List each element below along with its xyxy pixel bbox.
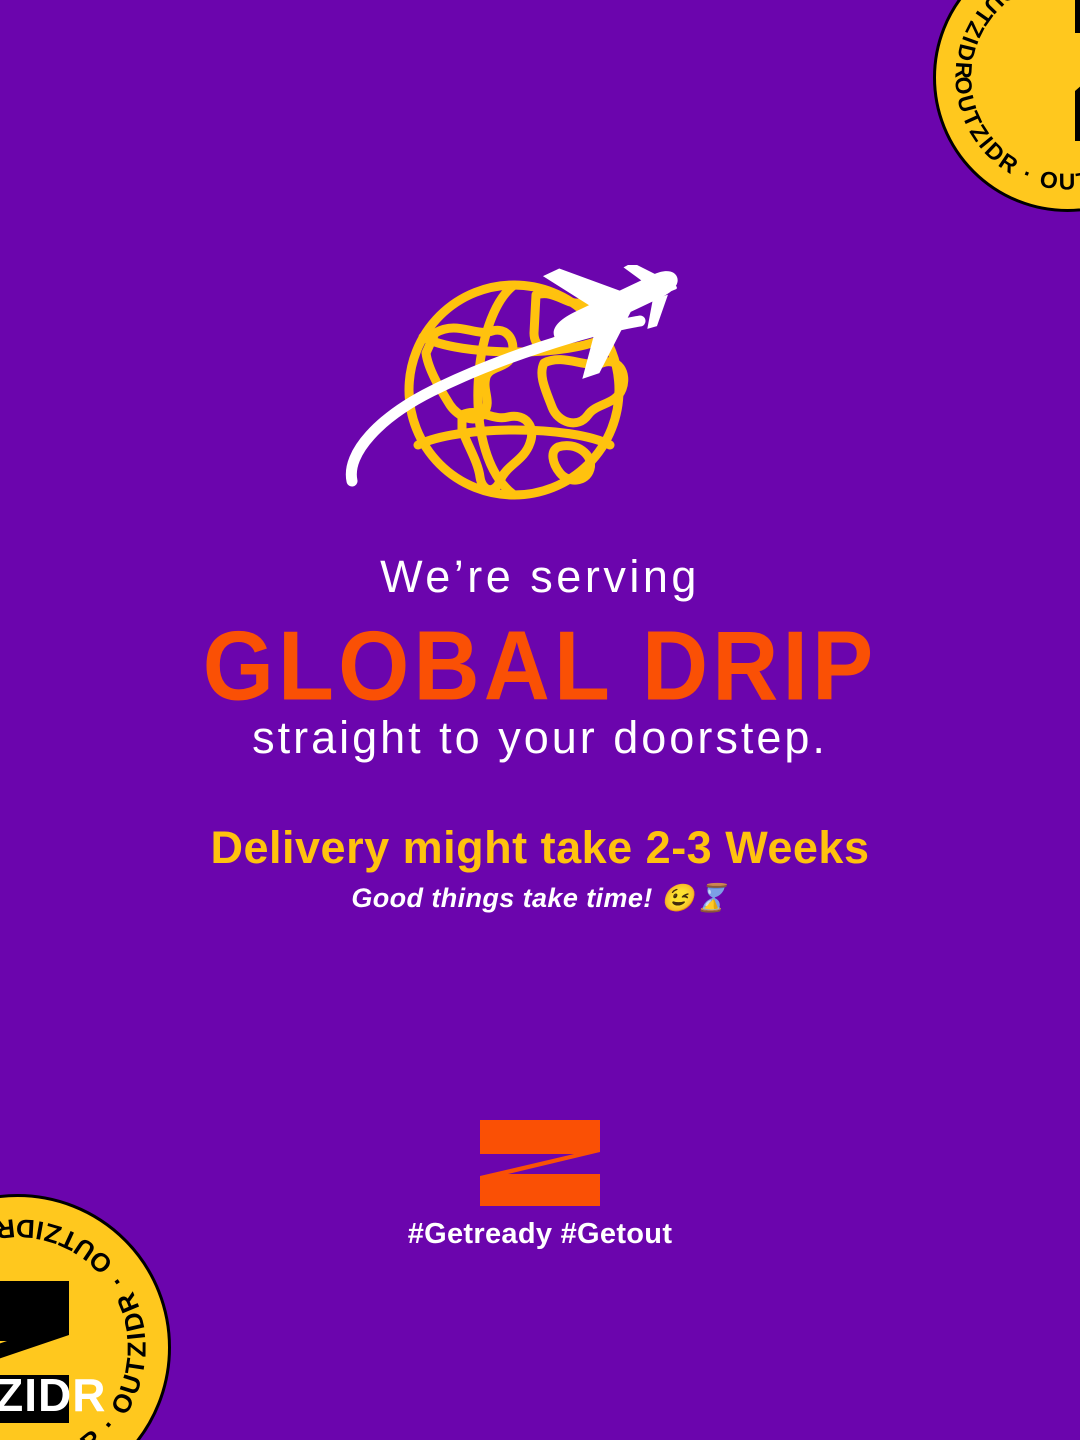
headline-line-serving: We’re serving bbox=[0, 552, 1080, 602]
delivery-subtext: Good things take time! 😉⌛ bbox=[0, 882, 1080, 914]
globe-airplane-illustration bbox=[340, 265, 740, 525]
z-logo-icon bbox=[478, 1118, 602, 1208]
headline-line-doorstep: straight to your doorstep. bbox=[0, 713, 1080, 763]
outzidr-seal-bottom-left: OUTZIDR · OUTZIDR · OUTZIDR · OUTZIDR · … bbox=[0, 1185, 180, 1440]
seal-wordmark: OUTZIDR bbox=[0, 1369, 106, 1421]
headline-global-drip: GLOBAL DRIP bbox=[0, 612, 1080, 718]
outzidr-seal-top-right: OUTZIDR · OUTZIDR · OUTZIDR · OUTZIDR · … bbox=[925, 0, 1080, 220]
promo-poster: We’re serving GLOBAL DRIP straight to yo… bbox=[0, 0, 1080, 1440]
delivery-time-notice: Delivery might take 2-3 Weeks bbox=[0, 822, 1080, 874]
